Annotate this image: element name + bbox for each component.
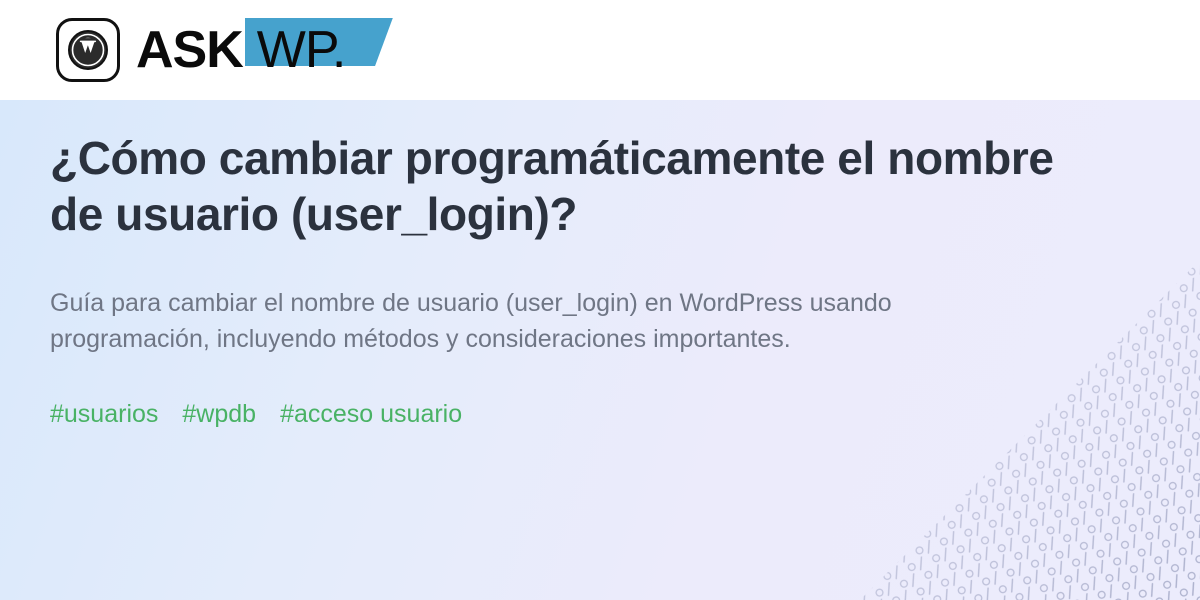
logo-wordmark: ASK WP. — [136, 18, 345, 82]
tag-item[interactable]: #usuarios — [50, 399, 158, 429]
tag-item[interactable]: #wpdb — [182, 399, 256, 429]
wordpress-logo-icon — [56, 18, 120, 82]
card-body: ¿Cómo cambiar programáticamente el nombr… — [0, 100, 1200, 600]
card-content: ¿Cómo cambiar programáticamente el nombr… — [50, 130, 1110, 429]
social-share-card: ASK WP. — [0, 0, 1200, 600]
tag-list: #usuarios #wpdb #acceso usuario — [50, 399, 1110, 429]
logo-wp-group: WP. — [257, 24, 346, 76]
page-title: ¿Cómo cambiar programáticamente el nombr… — [50, 130, 1090, 242]
logo-text-wp: WP. — [257, 21, 346, 79]
header-band: ASK WP. — [0, 0, 1200, 100]
tag-item[interactable]: #acceso usuario — [280, 399, 462, 429]
logo-text-ask: ASK — [136, 24, 243, 76]
site-logo[interactable]: ASK WP. — [56, 18, 345, 82]
page-subtitle: Guía para cambiar el nombre de usuario (… — [50, 286, 930, 357]
